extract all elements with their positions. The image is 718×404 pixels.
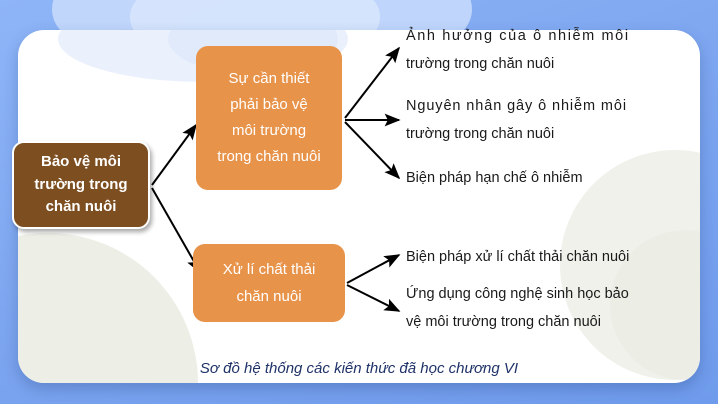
node-branch-1-line-4: trong chăn nuôi (217, 144, 320, 170)
node-branch-2-line-1: Xử lí chất thải (223, 256, 316, 283)
slide-canvas: Bảo vệ môi trường trong chăn nuôi Sự cần… (0, 0, 718, 404)
node-root-line-1: Bảo vệ môi (41, 151, 121, 174)
node-branch-1-line-1: Sự cần thiết (229, 66, 310, 92)
node-root[interactable]: Bảo vệ môi trường trong chăn nuôi (12, 141, 150, 229)
leaf-pollution-effects: Ảnh hưởng của ô nhiễm môi trường trong c… (406, 22, 630, 79)
leaf-2-line-1: Nguyên nhân gây ô nhiễm môi (406, 92, 627, 120)
leaf-5-line-2: vệ môi trường trong chăn nuôi (406, 308, 629, 336)
leaf-4-line-1: Biện pháp xử lí chất thải chăn nuôi (406, 243, 629, 271)
leaf-2-line-2: trường trong chăn nuôi (406, 120, 627, 148)
leaf-pollution-causes: Nguyên nhân gây ô nhiễm môi trường trong… (406, 92, 627, 149)
leaf-1-line-2: trường trong chăn nuôi (406, 50, 630, 78)
leaf-pollution-limiting-measures: Biện pháp hạn chế ô nhiễm (406, 164, 583, 192)
node-branch-waste-treatment[interactable]: Xử lí chất thải chăn nuôi (193, 244, 345, 322)
leaf-1-line-1: Ảnh hưởng của ô nhiễm môi (406, 22, 630, 50)
node-branch-1-line-2: phải bảo vệ (230, 92, 308, 118)
node-branch-1-line-3: môi trường (232, 118, 306, 144)
node-branch-necessity[interactable]: Sự cần thiết phải bảo vệ môi trường tron… (196, 46, 342, 190)
node-root-line-3: chăn nuôi (46, 196, 117, 219)
leaf-waste-treatment-measures: Biện pháp xử lí chất thải chăn nuôi (406, 243, 629, 271)
slide-caption: Sơ đồ hệ thống các kiến thức đã học chươ… (0, 360, 718, 377)
node-branch-2-line-2: chăn nuôi (236, 283, 301, 310)
node-root-line-2: trường trong (34, 174, 127, 197)
leaf-3-line-1: Biện pháp hạn chế ô nhiễm (406, 164, 583, 192)
leaf-5-line-1: Ứng dụng công nghệ sinh học bảo (406, 280, 629, 308)
leaf-biotech-application: Ứng dụng công nghệ sinh học bảo vệ môi t… (406, 280, 629, 337)
